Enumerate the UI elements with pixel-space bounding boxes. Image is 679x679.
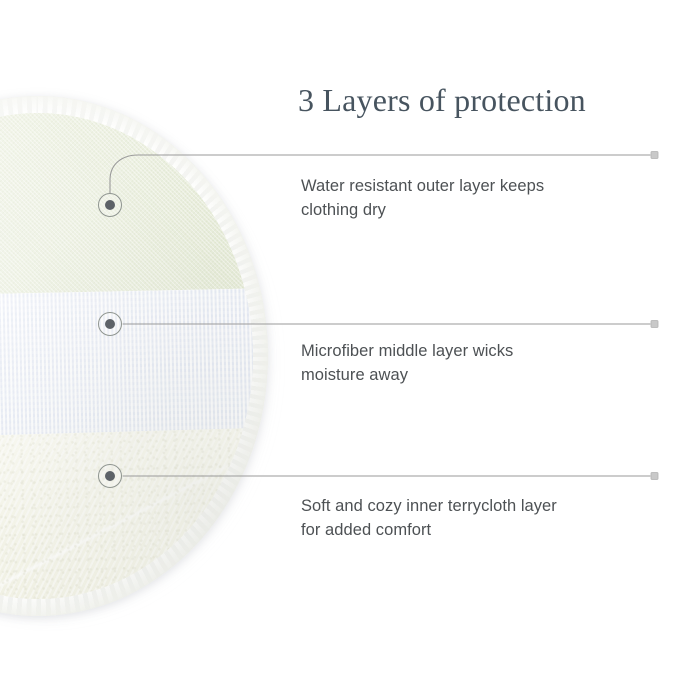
callout-caption-3: Soft and cozy inner terrycloth layer for…: [301, 494, 631, 542]
caption-line: Microfiber middle layer wicks: [301, 339, 631, 363]
nursing-pad: [0, 96, 268, 616]
leader-end-cap-3: [651, 473, 658, 480]
callout-caption-1: Water resistant outer layer keeps clothi…: [301, 174, 631, 222]
caption-line: Water resistant outer layer keeps: [301, 174, 631, 198]
product-photo: [0, 0, 300, 679]
leader-end-cap-1: [651, 152, 658, 159]
leader-end-cap-2: [651, 321, 658, 328]
callout-marker-2: [98, 312, 122, 336]
callout-marker-1: [98, 193, 122, 217]
marker-dot-icon: [105, 471, 115, 481]
caption-line: Soft and cozy inner terrycloth layer: [301, 494, 631, 518]
marker-dot-icon: [105, 200, 115, 210]
callout-caption-2: Microfiber middle layer wicks moisture a…: [301, 339, 631, 387]
page-title: 3 Layers of protection: [298, 80, 586, 120]
infographic-canvas: 3 Layers of protection Water resistant o…: [0, 0, 679, 679]
caption-line: moisture away: [301, 363, 631, 387]
marker-dot-icon: [105, 319, 115, 329]
caption-line: for added comfort: [301, 518, 631, 542]
callout-marker-3: [98, 464, 122, 488]
caption-line: clothing dry: [301, 198, 631, 222]
